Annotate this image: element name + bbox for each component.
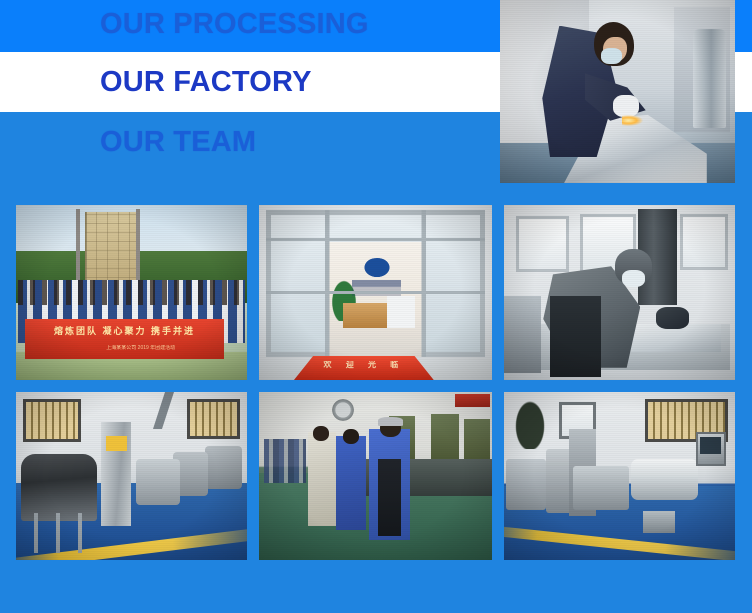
bending-machine: [504, 296, 541, 373]
worker-apron: [550, 296, 601, 377]
window-right: [187, 399, 240, 439]
worker-1-white: [308, 432, 336, 526]
photo-processing-grinding: [500, 0, 735, 183]
photo-team-group: 熔炼团队 凝心聚力 携手并进 上海某某公司 2019 年团建活动: [16, 205, 247, 380]
photo-scene: [16, 392, 247, 560]
window-left: [516, 216, 569, 272]
work-glove: [656, 307, 688, 330]
photo-scene: 欢 迎 光 临: [259, 205, 492, 380]
photo-scene: [504, 205, 735, 380]
photo-production-line-2: [504, 392, 735, 560]
worker-2-blue: [336, 436, 366, 530]
background-workers: [264, 439, 306, 483]
control-panel: [106, 436, 127, 451]
machine-legs: [34, 513, 85, 553]
window-mullions: [266, 210, 485, 357]
steel-tank: [693, 29, 726, 128]
red-wall-sign: [455, 394, 490, 407]
banner-main-text: 熔炼团队 凝心聚力 携手并进: [30, 326, 219, 345]
mixer-machine: [573, 466, 628, 510]
team-members-heads: [18, 280, 244, 305]
photo-scene: [500, 0, 735, 183]
face-mask: [601, 48, 622, 64]
heading-our-team: OUR TEAM: [100, 128, 256, 157]
machine-5: [205, 446, 242, 490]
worker-3-cap: [378, 417, 404, 425]
window-tree-shadow: [513, 392, 550, 449]
machine-1: [506, 459, 545, 509]
photo-office-entrance: 欢 迎 光 临: [259, 205, 492, 380]
photo-sheet-metal-worker: [504, 205, 735, 380]
worker-1-head: [313, 426, 329, 441]
photo-production-line-1: [16, 392, 247, 560]
control-screen: [700, 437, 721, 454]
page-root: OUR PROCESSING OUR FACTORY OUR TEAM: [0, 0, 752, 613]
floor-equipment-box: [643, 511, 675, 533]
heading-our-factory: OUR FACTORY: [100, 68, 312, 97]
work-glove: [613, 95, 639, 117]
photo-scene: [259, 392, 492, 560]
carpet-text: 欢 迎 光 临: [301, 361, 427, 375]
banner-sub-text: 上海某某公司 2019 年团建活动: [85, 345, 196, 357]
worker-2-head: [343, 429, 359, 444]
window-left: [23, 399, 81, 443]
heading-our-processing: OUR PROCESSING: [100, 10, 369, 39]
photo-machine-shop: [259, 392, 492, 560]
grinding-sparks: [622, 115, 643, 126]
wall-fan: [329, 399, 357, 421]
face-mask: [622, 270, 645, 288]
window-right: [680, 214, 729, 270]
photo-scene: 熔炼团队 凝心聚力 携手并进 上海某某公司 2019 年团建活动: [16, 205, 247, 380]
machine-3: [136, 459, 180, 504]
worker-3-apron: [378, 459, 401, 536]
mixer-machine-1: [21, 454, 97, 521]
photo-scene: [504, 392, 735, 560]
stainless-drum: [631, 459, 698, 499]
